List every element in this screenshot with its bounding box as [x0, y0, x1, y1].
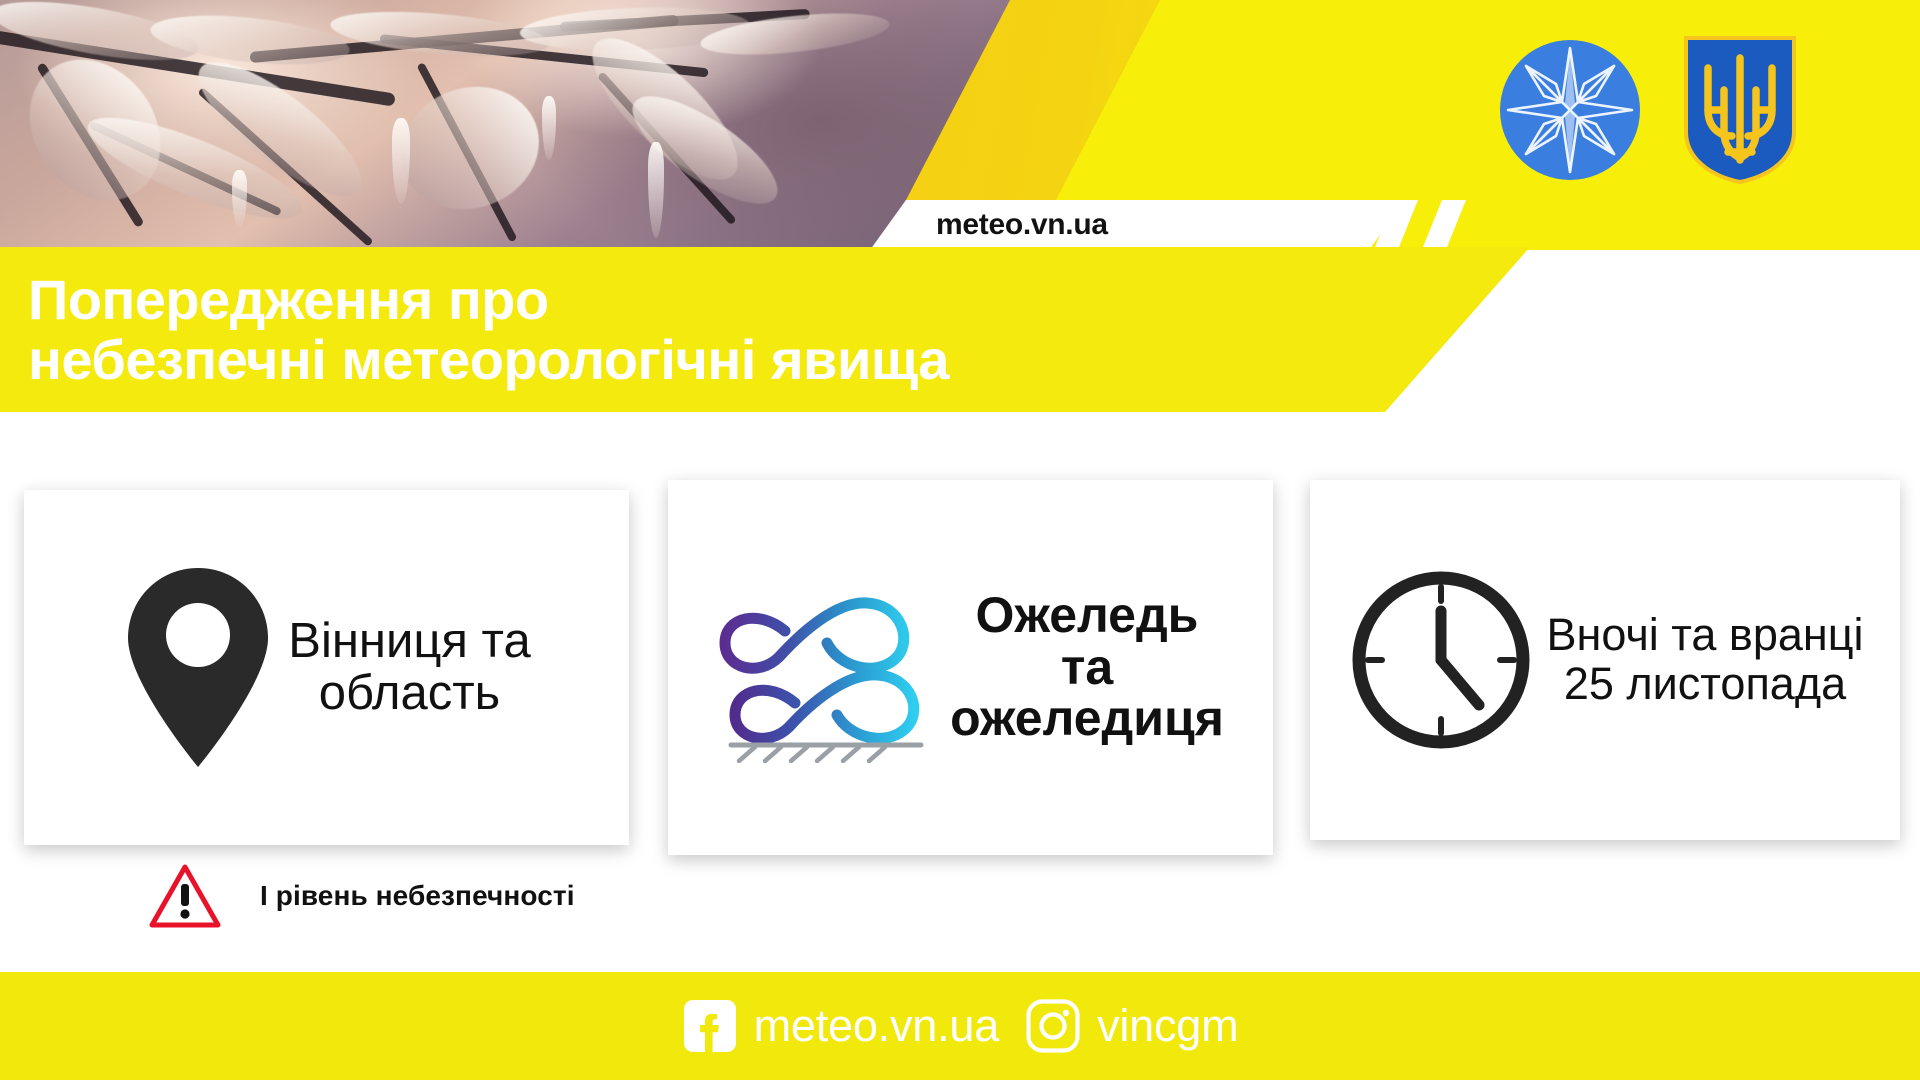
card-phenomenon[interactable]: Ожеледь та ожеледиця — [668, 480, 1273, 855]
ses-compass-emblem — [1500, 40, 1640, 180]
card-time-line-1: Вночі та вранці — [1546, 611, 1863, 660]
facebook-handle: meteo.vn.ua — [754, 1000, 999, 1052]
icy-branch-photo — [0, 0, 1010, 250]
card-location-label: Вінниця та область — [288, 616, 530, 720]
card-time[interactable]: Вночі та вранці 25 листопада — [1310, 480, 1900, 840]
poster-title-band: Попередження про небезпечні метеорологіч… — [0, 247, 1530, 412]
poster-title-line-1: Попередження про — [28, 270, 1530, 330]
map-pin-icon — [122, 565, 274, 770]
card-phenomenon-line-2: та — [950, 642, 1224, 694]
danger-level-text: І рівень небезпечності — [260, 880, 575, 912]
poster-title-line-2: небезпечні метеорологічні явища — [28, 330, 1530, 390]
site-url-text: meteo.vn.ua — [936, 208, 1108, 242]
danger-level-row: І рівень небезпечності — [148, 862, 575, 930]
weather-warning-poster: meteo.vn.ua Попередження про небезпечні … — [0, 0, 1920, 1080]
card-phenomenon-line-1: Ожеледь — [950, 590, 1224, 642]
facebook-group[interactable]: meteo.vn.ua — [682, 998, 999, 1054]
card-location-line-1: Вінниця та — [288, 616, 530, 668]
instagram-group[interactable]: vincgm — [1025, 998, 1238, 1054]
card-time-label: Вночі та вранці 25 листопада — [1546, 611, 1863, 708]
info-card-row: Вінниця та область — [0, 480, 1920, 850]
instagram-icon — [1025, 998, 1081, 1054]
card-phenomenon-line-3: ожеледиця — [950, 693, 1224, 745]
card-time-line-2: 25 листопада — [1546, 660, 1863, 709]
warning-triangle-icon — [148, 862, 222, 930]
instagram-handle: vincgm — [1097, 1000, 1238, 1052]
site-url-chip[interactable]: meteo.vn.ua — [870, 200, 1405, 250]
card-location[interactable]: Вінниця та область — [24, 490, 629, 845]
freezing-rain-icon — [717, 573, 932, 763]
clock-icon — [1346, 565, 1536, 755]
social-footer: meteo.vn.ua vincgm — [0, 972, 1920, 1080]
card-location-line-2: область — [288, 668, 530, 720]
ukraine-trident-coat-of-arms — [1684, 36, 1796, 184]
emblem-group — [1500, 36, 1796, 184]
card-phenomenon-label: Ожеледь та ожеледиця — [950, 590, 1224, 745]
facebook-icon — [682, 998, 738, 1054]
